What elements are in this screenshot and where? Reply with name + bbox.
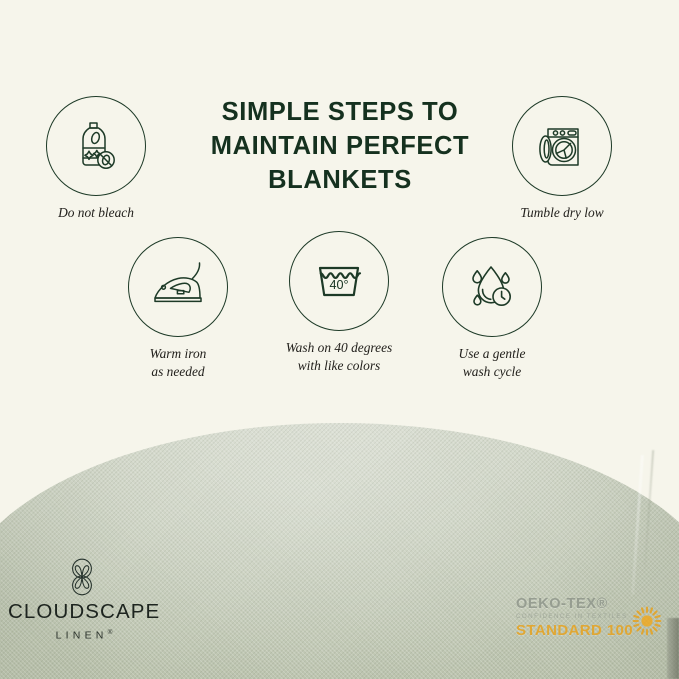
badge-ring <box>442 237 542 337</box>
care-badge-caption: Tumble dry low <box>482 204 642 222</box>
badge-ring <box>512 96 612 196</box>
title-line-2: MAINTAIN PERFECT <box>190 130 490 164</box>
brand-lockup: CLOUDSCAPE LINEN® <box>8 556 156 642</box>
oeko-tex-certification-badge: OEKO-TEX® CONFIDENCE IN TEXTILES STANDAR… <box>516 596 666 639</box>
water-drop-clock-icon <box>460 255 524 319</box>
oeko-tex-sunburst-seal-icon <box>632 606 662 641</box>
product-care-infographic: SIMPLE STEPS TO MAINTAIN PERFECT BLANKET… <box>0 0 679 679</box>
registered-trademark-mark: ® <box>108 629 113 636</box>
tumble-dryer-icon <box>531 115 593 177</box>
page-title: SIMPLE STEPS TO MAINTAIN PERFECT BLANKET… <box>190 96 490 198</box>
care-badge-do-not-bleach: Do not bleach <box>16 96 176 222</box>
brand-subtitle: LINEN® <box>8 629 156 642</box>
care-badge-caption: Warm iron as needed <box>98 345 258 380</box>
iron-icon <box>145 254 211 320</box>
brand-name: CLOUDSCAPE <box>8 600 156 624</box>
title-line-1: SIMPLE STEPS TO <box>190 96 490 130</box>
wash-tub-icon: 40° <box>307 249 371 313</box>
title-line-3: BLANKETS <box>190 164 490 198</box>
fabric-right-edge-strip <box>667 618 679 679</box>
cloudscape-infinity-leaf-logo <box>65 556 99 598</box>
care-badge-caption: Wash on 40 degrees with like colors <box>259 339 419 374</box>
bleach-bottle-crossed-icon <box>65 115 127 177</box>
wash-temperature-label: 40° <box>329 278 348 292</box>
care-badge-tumble-dry-low: Tumble dry low <box>482 96 642 222</box>
brand-subtitle-text: LINEN <box>56 630 108 642</box>
badge-ring <box>128 237 228 337</box>
care-badge-warm-iron: Warm iron as needed <box>98 237 258 380</box>
care-badge-caption: Use a gentle wash cycle <box>412 345 572 380</box>
care-badge-wash-40-degrees: 40° Wash on 40 degrees with like colors <box>259 231 419 374</box>
badge-ring: 40° <box>289 231 389 331</box>
badge-ring <box>46 96 146 196</box>
brand-logo <box>8 556 156 598</box>
care-badge-caption: Do not bleach <box>16 204 176 222</box>
care-badge-gentle-wash-cycle: Use a gentle wash cycle <box>412 237 572 380</box>
